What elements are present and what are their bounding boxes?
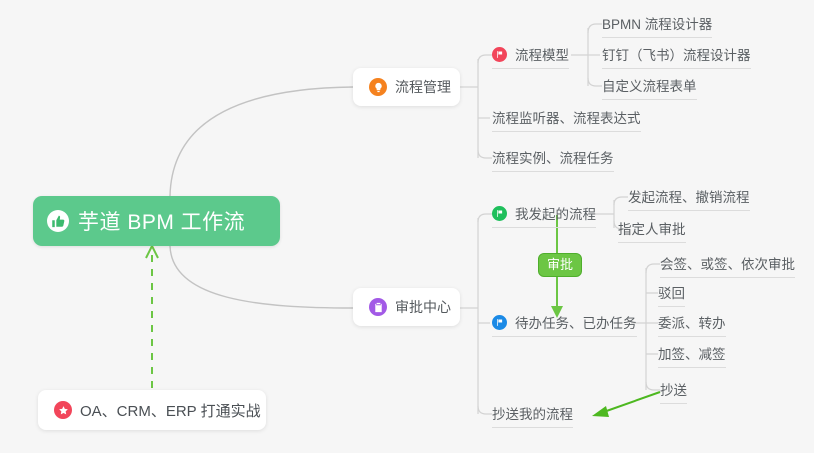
arrow-cc-to-ccme [598, 392, 660, 414]
edge-model-c3 [588, 78, 602, 86]
node-process-listener[interactable]: 流程监听器、流程表达式 [492, 106, 641, 132]
label-my-started-process: 我发起的流程 [515, 206, 596, 223]
edge-root-to-approval-center [170, 246, 353, 308]
mindmap-canvas: 芋道 BPM 工作流 流程管理 流程模型 BPMN 流程设计器 钉钉（飞书）流程… [0, 0, 814, 453]
root-label: 芋道 BPM 工作流 [78, 206, 245, 236]
edge-todo-c1 [646, 264, 660, 273]
branch-label-approval-center: 审批中心 [395, 297, 451, 317]
branch-node-process-management[interactable]: 流程管理 [353, 68, 460, 106]
edge-started-c1 [614, 197, 628, 205]
root-node[interactable]: 芋道 BPM 工作流 [33, 196, 280, 246]
label-process-listener: 流程监听器、流程表达式 [492, 110, 641, 127]
label-todo-done-tasks: 待办任务、已办任务 [515, 315, 637, 332]
flag-icon [492, 315, 507, 330]
clipboard-icon [369, 298, 387, 316]
label-reject: 驳回 [658, 285, 685, 302]
label-bpmn-designer: BPMN 流程设计器 [602, 16, 712, 33]
node-countersign[interactable]: 会签、或签、依次审批 [660, 252, 795, 278]
node-delegate-transfer[interactable]: 委派、转办 [658, 311, 726, 337]
edge-ac-to-cc [478, 406, 492, 414]
label-dingtalk-designer: 钉钉（飞书）流程设计器 [602, 47, 751, 64]
label-cc-to-me-process: 抄送我的流程 [492, 406, 573, 423]
edge-ac-to-my-started [478, 214, 492, 222]
edge-pm-to-instance [478, 150, 492, 158]
node-process-model[interactable]: 流程模型 [492, 43, 569, 69]
edge-root-to-process-management [170, 87, 353, 196]
node-carbon-copy[interactable]: 抄送 [660, 378, 687, 404]
star-icon [54, 401, 72, 419]
branch-node-approval-center[interactable]: 审批中心 [353, 288, 460, 326]
flag-icon [492, 206, 507, 221]
approve-annotation-chip: 审批 [538, 253, 582, 277]
label-process-model: 流程模型 [515, 47, 569, 64]
node-reject[interactable]: 驳回 [658, 281, 685, 307]
floating-node-integration-practice[interactable]: OA、CRM、ERP 打通实战 [38, 390, 266, 430]
node-custom-form[interactable]: 自定义流程表单 [602, 74, 697, 100]
label-start-cancel-process: 发起流程、撤销流程 [628, 189, 750, 206]
thumbs-up-icon [47, 210, 69, 232]
label-custom-form: 自定义流程表单 [602, 78, 697, 95]
edge-pm-to-process-model [478, 55, 492, 63]
node-add-remove-sign[interactable]: 加签、减签 [658, 342, 726, 368]
node-todo-done-tasks[interactable]: 待办任务、已办任务 [492, 311, 637, 337]
flag-icon [492, 47, 507, 62]
label-add-remove-sign: 加签、减签 [658, 346, 726, 363]
label-countersign: 会签、或签、依次审批 [660, 256, 795, 273]
node-process-instance[interactable]: 流程实例、流程任务 [492, 146, 614, 172]
edge-model-c1 [588, 24, 602, 33]
label-carbon-copy: 抄送 [660, 382, 687, 399]
arrow-integration-head [146, 246, 158, 258]
node-start-cancel-process[interactable]: 发起流程、撤销流程 [628, 185, 750, 211]
lightbulb-pin-icon [369, 78, 387, 96]
edge-todo-c5 [646, 382, 660, 390]
branch-label-process-management: 流程管理 [395, 77, 451, 97]
floating-label-integration-practice: OA、CRM、ERP 打通实战 [80, 400, 261, 421]
node-my-started-process[interactable]: 我发起的流程 [492, 202, 596, 228]
arrow-cc-head [592, 406, 609, 417]
label-process-instance: 流程实例、流程任务 [492, 150, 614, 167]
node-dingtalk-designer[interactable]: 钉钉（飞书）流程设计器 [602, 43, 751, 69]
node-assignee-approval[interactable]: 指定人审批 [618, 217, 686, 243]
node-bpmn-designer[interactable]: BPMN 流程设计器 [602, 12, 712, 38]
label-delegate-transfer: 委派、转办 [658, 315, 726, 332]
label-assignee-approval: 指定人审批 [618, 221, 686, 238]
edge-pm-spine [470, 59, 478, 158]
node-cc-to-me-process[interactable]: 抄送我的流程 [492, 402, 573, 428]
